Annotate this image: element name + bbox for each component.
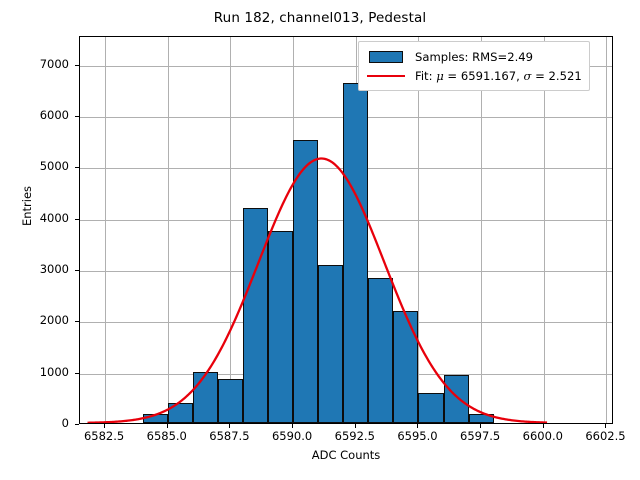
y-tick bbox=[75, 321, 79, 322]
x-tick bbox=[355, 424, 356, 428]
y-tick bbox=[75, 424, 79, 425]
y-tick bbox=[75, 219, 79, 220]
x-axis-label: ADC Counts bbox=[79, 448, 613, 462]
legend-line-icon bbox=[366, 69, 406, 83]
x-tick bbox=[480, 424, 481, 428]
x-tick bbox=[417, 424, 418, 428]
legend-item-fit: Fit: μ = 6591.167, σ = 2.521 bbox=[366, 66, 582, 85]
x-tick bbox=[167, 424, 168, 428]
x-tick bbox=[104, 424, 105, 428]
y-tick bbox=[75, 270, 79, 271]
x-tick-label: 6602.5 bbox=[565, 429, 640, 443]
legend-patch-icon bbox=[366, 50, 406, 64]
figure-canvas: Run 182, channel013, Pedestal 6582.56585… bbox=[0, 0, 640, 480]
plot-area bbox=[79, 36, 613, 424]
legend-item-samples: Samples: RMS=2.49 bbox=[366, 47, 582, 66]
x-tick bbox=[229, 424, 230, 428]
fit-path bbox=[87, 159, 547, 423]
legend-label-samples: Samples: RMS=2.49 bbox=[415, 50, 533, 64]
y-tick-label: 2000 bbox=[0, 313, 69, 327]
y-tick-label: 4000 bbox=[0, 211, 69, 225]
y-tick-label: 6000 bbox=[0, 108, 69, 122]
y-tick-label: 7000 bbox=[0, 57, 69, 71]
x-tick bbox=[605, 424, 606, 428]
y-tick-label: 5000 bbox=[0, 159, 69, 173]
legend: Samples: RMS=2.49 Fit: μ = 6591.167, σ =… bbox=[358, 41, 590, 91]
y-tick-label: 0 bbox=[0, 416, 69, 430]
y-tick-label: 3000 bbox=[0, 262, 69, 276]
y-tick-label: 1000 bbox=[0, 365, 69, 379]
y-tick bbox=[75, 167, 79, 168]
chart-title: Run 182, channel013, Pedestal bbox=[0, 10, 640, 26]
y-tick bbox=[75, 373, 79, 374]
x-tick bbox=[543, 424, 544, 428]
gaussian-fit-curve bbox=[80, 37, 612, 423]
y-tick bbox=[75, 116, 79, 117]
x-tick bbox=[292, 424, 293, 428]
y-tick bbox=[75, 65, 79, 66]
legend-label-fit: Fit: μ = 6591.167, σ = 2.521 bbox=[415, 69, 582, 83]
y-axis-label: Entries bbox=[20, 161, 34, 251]
